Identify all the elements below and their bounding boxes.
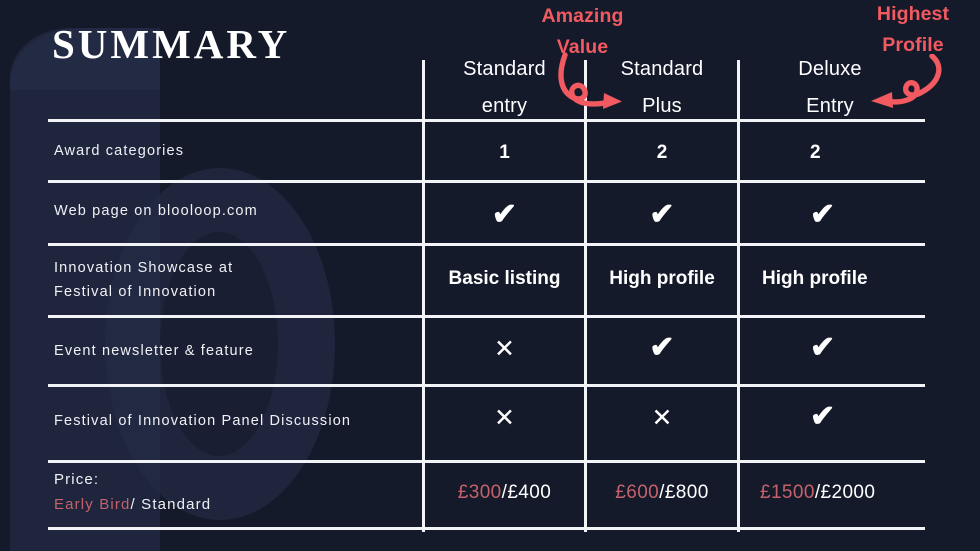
cell-price-standard-entry: £300/£400 bbox=[425, 482, 584, 504]
row-label-price-early-standard: Early Bird/ Standard bbox=[54, 494, 211, 515]
price-standard-value: £400 bbox=[507, 482, 551, 503]
cell-innovation-showcase-standard-plus: High profile bbox=[587, 268, 737, 290]
price-early-value: £600 bbox=[615, 482, 659, 503]
cell-web-page-standard-entry: ✔ bbox=[425, 200, 584, 230]
cell-event-newsletter-standard-entry: ✕ bbox=[425, 337, 584, 362]
cell-panel-discussion-standard-plus: ✕ bbox=[587, 406, 737, 431]
check-icon: ✔ bbox=[810, 333, 835, 363]
cell-award-categories-deluxe-entry: 2 bbox=[740, 142, 920, 164]
row-label-price: Price: bbox=[54, 469, 99, 490]
grid-vline bbox=[422, 60, 425, 532]
slide-root: SUMMARY Standard entry Standard Plus Del… bbox=[0, 0, 980, 551]
annotation-highest-profile-line2: Profile bbox=[846, 34, 980, 57]
cell-innovation-showcase-standard-entry: Basic listing bbox=[425, 268, 584, 290]
grid-hline bbox=[48, 243, 925, 246]
price-standard-value: £2000 bbox=[821, 482, 876, 503]
cell-panel-discussion-deluxe-entry: ✔ bbox=[740, 402, 920, 432]
cross-icon: ✕ bbox=[652, 406, 673, 431]
column-header-standard-entry-line2: entry bbox=[425, 87, 584, 125]
annotation-highest-profile-line1: Highest bbox=[846, 3, 980, 26]
row-label-web-page: Web page on blooloop.com bbox=[54, 201, 258, 222]
column-header-standard-plus-line2: Plus bbox=[587, 87, 737, 125]
cell-award-categories-standard-plus: 2 bbox=[587, 142, 737, 164]
grid-hline bbox=[48, 527, 925, 530]
grid-hline bbox=[48, 180, 925, 183]
grid-vline bbox=[737, 60, 740, 532]
cross-icon: ✕ bbox=[494, 406, 515, 431]
check-icon: ✔ bbox=[810, 402, 835, 432]
early-bird-label: Early Bird bbox=[54, 496, 131, 513]
check-icon: ✔ bbox=[649, 200, 674, 230]
cell-innovation-showcase-deluxe-entry: High profile bbox=[740, 268, 920, 290]
check-icon: ✔ bbox=[492, 200, 517, 230]
annotation-amazing-value-line1: Amazing bbox=[510, 5, 655, 28]
check-icon: ✔ bbox=[649, 333, 674, 363]
standard-label: / Standard bbox=[131, 496, 212, 513]
row-label-event-newsletter: Event newsletter & feature bbox=[54, 341, 254, 362]
cell-price-deluxe-entry: £1500/£2000 bbox=[740, 482, 920, 504]
cell-web-page-standard-plus: ✔ bbox=[587, 200, 737, 230]
grid-vline bbox=[584, 60, 587, 532]
row-label-panel-discussion: Festival of Innovation Panel Discussion bbox=[54, 411, 351, 432]
price-early-value: £1500 bbox=[760, 482, 815, 503]
cell-award-categories-standard-entry: 1 bbox=[425, 142, 584, 164]
grid-hline bbox=[48, 460, 925, 463]
cell-panel-discussion-standard-entry: ✕ bbox=[425, 406, 584, 431]
row-label-award-categories: Award categories bbox=[54, 141, 184, 162]
cell-web-page-deluxe-entry: ✔ bbox=[740, 200, 920, 230]
cell-event-newsletter-standard-plus: ✔ bbox=[587, 333, 737, 363]
check-icon: ✔ bbox=[810, 200, 835, 230]
annotation-amazing-value-line2: Value bbox=[510, 36, 655, 59]
grid-hline bbox=[48, 315, 925, 318]
column-header-deluxe-entry-line2: Entry bbox=[740, 87, 920, 125]
grid-hline bbox=[48, 384, 925, 387]
cross-icon: ✕ bbox=[494, 337, 515, 362]
price-early-value: £300 bbox=[458, 482, 502, 503]
row-label-innovation-showcase-line2: Festival of Innovation bbox=[54, 282, 216, 303]
price-standard-value: £800 bbox=[665, 482, 709, 503]
row-label-innovation-showcase-line1: Innovation Showcase at bbox=[54, 258, 233, 279]
cell-event-newsletter-deluxe-entry: ✔ bbox=[740, 333, 920, 363]
cell-price-standard-plus: £600/£800 bbox=[587, 482, 737, 504]
